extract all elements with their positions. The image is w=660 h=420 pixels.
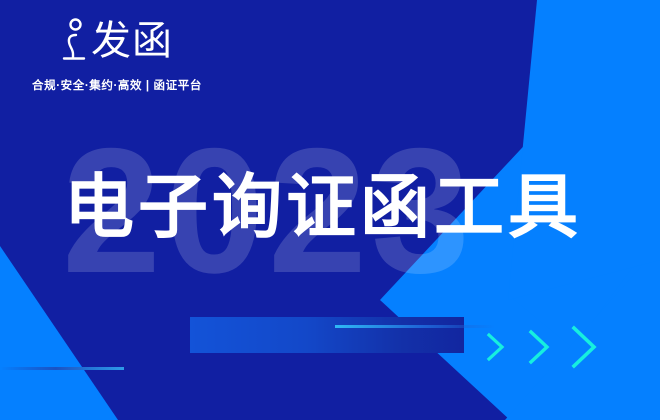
chevron-right-icon xyxy=(570,325,600,369)
logo-tagline: 合规·安全·集约·高效 | 函证平台 xyxy=(22,77,212,93)
chevron-right-icon xyxy=(485,332,507,362)
gradient-bar-shape xyxy=(190,317,464,353)
page-title: 电子询证函工具 xyxy=(64,172,582,242)
promo-banner: 2023 发函 合规·安全·集约·高效 | 函证平台 电子询证函工具 xyxy=(0,0,660,420)
logo-block: 发函 合规·安全·集约·高效 | 函证平台 xyxy=(22,14,212,93)
person-i-mark-icon xyxy=(61,18,87,64)
chevron-right-icon xyxy=(527,329,553,365)
logo-wordmark: 发函 xyxy=(91,21,173,61)
light-streak-top-icon xyxy=(335,325,495,328)
light-streak-bottom-icon xyxy=(0,367,124,370)
logo-lockup: 发函 xyxy=(22,14,212,68)
